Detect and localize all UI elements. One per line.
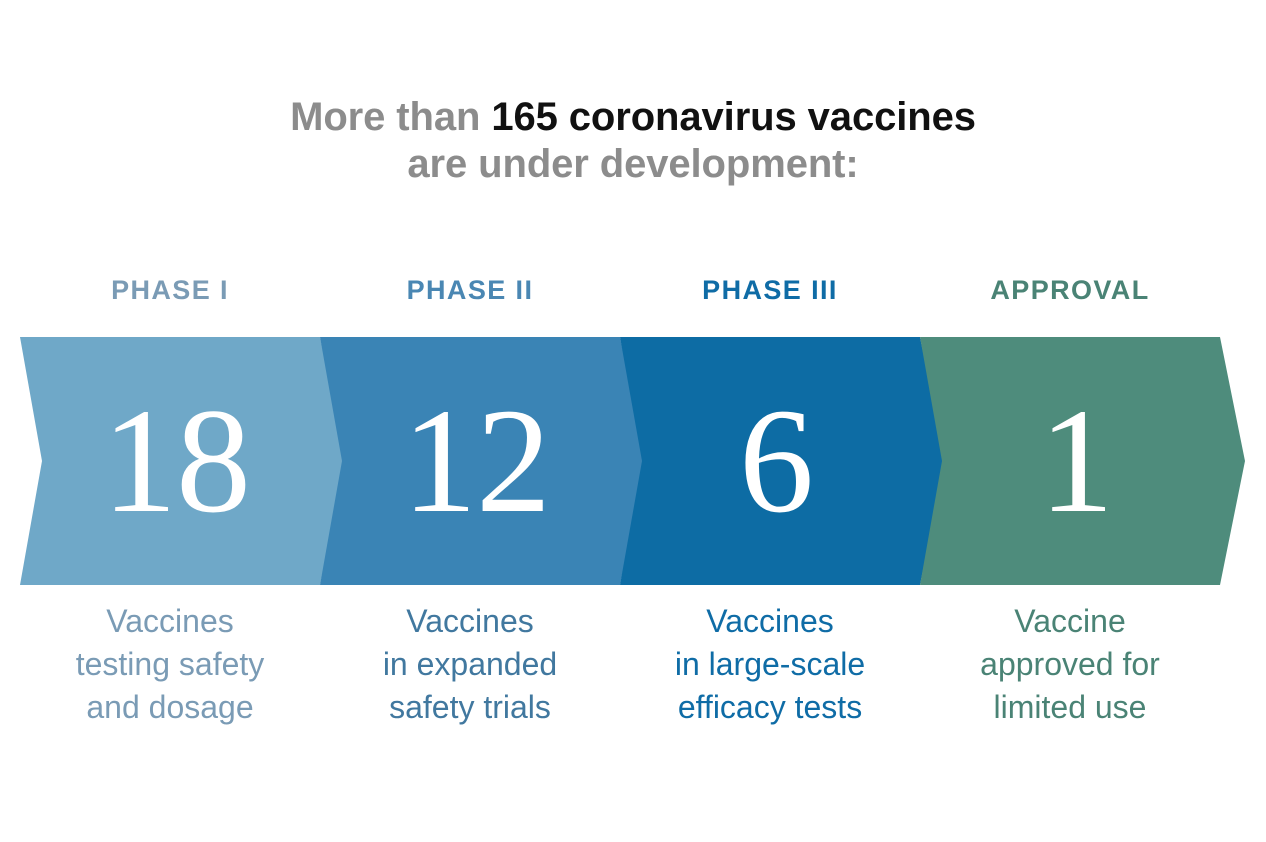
pipeline-stage-phase-i: PHASE I 18 Vaccines testing safety and d… xyxy=(20,275,320,755)
stage-caption-approval: Vaccine approved for limited use xyxy=(920,600,1220,729)
caption-line: in expanded xyxy=(320,643,620,686)
headline-line-1: More than 165 coronavirus vaccines xyxy=(0,94,1266,141)
caption-line: Vaccines xyxy=(320,600,620,643)
vaccine-pipeline: PHASE I 18 Vaccines testing safety and d… xyxy=(0,275,1266,755)
stage-label-phase-ii: PHASE II xyxy=(320,275,620,306)
stage-count-phase-i: 18 xyxy=(20,337,320,585)
caption-line: Vaccine xyxy=(920,600,1220,643)
stage-count-phase-ii: 12 xyxy=(320,337,620,585)
chevron-phase-i: 18 xyxy=(20,337,320,585)
page-title: More than 165 coronavirus vaccines are u… xyxy=(0,94,1266,188)
caption-line: approved for xyxy=(920,643,1220,686)
stage-label-phase-iii: PHASE III xyxy=(620,275,920,306)
stage-caption-phase-iii: Vaccines in large-scale efficacy tests xyxy=(620,600,920,729)
chevron-approval: 1 xyxy=(920,337,1220,585)
infographic-canvas: More than 165 coronavirus vaccines are u… xyxy=(0,0,1266,842)
pipeline-stage-phase-ii: PHASE II 12 Vaccines in expanded safety … xyxy=(320,275,620,755)
stage-caption-phase-i: Vaccines testing safety and dosage xyxy=(20,600,320,729)
caption-line: limited use xyxy=(920,686,1220,729)
caption-line: Vaccines xyxy=(20,600,320,643)
caption-line: and dosage xyxy=(20,686,320,729)
pipeline-stage-phase-iii: PHASE III 6 Vaccines in large-scale effi… xyxy=(620,275,920,755)
stage-count-phase-iii: 6 xyxy=(620,337,920,585)
headline-prefix: More than xyxy=(290,95,491,139)
stage-label-phase-i: PHASE I xyxy=(20,275,320,306)
caption-line: safety trials xyxy=(320,686,620,729)
stage-count-approval: 1 xyxy=(920,337,1220,585)
chevron-phase-ii: 12 xyxy=(320,337,620,585)
pipeline-stage-approval: APPROVAL 1 Vaccine approved for limited … xyxy=(920,275,1220,755)
headline-emphasis: 165 coronavirus vaccines xyxy=(491,95,976,139)
caption-line: testing safety xyxy=(20,643,320,686)
stage-caption-phase-ii: Vaccines in expanded safety trials xyxy=(320,600,620,729)
chevron-phase-iii: 6 xyxy=(620,337,920,585)
headline-line-2: are under development: xyxy=(0,141,1266,188)
caption-line: efficacy tests xyxy=(620,686,920,729)
caption-line: in large-scale xyxy=(620,643,920,686)
caption-line: Vaccines xyxy=(620,600,920,643)
stage-label-approval: APPROVAL xyxy=(920,275,1220,306)
